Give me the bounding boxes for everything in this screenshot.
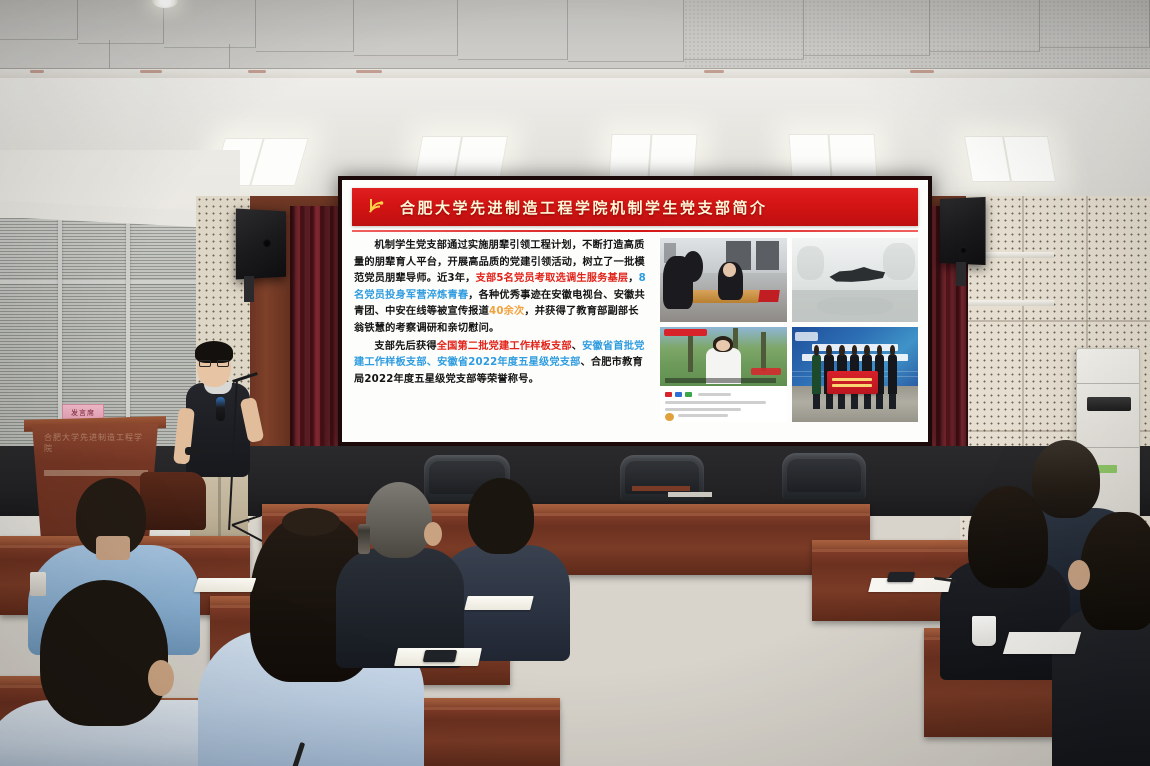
laser-pointer[interactable] — [185, 447, 205, 455]
audience-8-ear — [1068, 560, 1090, 590]
audience-4-head — [468, 478, 534, 554]
slide-text-run: ， — [628, 273, 638, 284]
ceiling-panel-light-3 — [608, 134, 697, 178]
phone-on-desk-2[interactable] — [887, 572, 915, 582]
podium-label: 合肥大学先进制造工程学院 — [44, 432, 148, 444]
slide-photo-grid — [660, 236, 918, 422]
audience-2-head — [40, 580, 168, 726]
slide-text-run: 全国第二批党建工作样板支部 — [437, 341, 572, 352]
notebook-2 — [464, 596, 533, 610]
audience-7-hair — [968, 486, 1048, 588]
projection-screen[interactable]: 合肥大学先进制造工程学院机制学生党支部简介 机制学生党支部通过实施朋辈引领工程计… — [338, 176, 932, 446]
presenter-glasses — [199, 360, 229, 367]
wooden-armchair — [140, 472, 206, 530]
podium-ledge — [44, 470, 148, 476]
slide-text-run: 支部先后获得 — [374, 341, 436, 352]
speaker-left-bracket — [244, 276, 254, 302]
audience-2-ear — [148, 660, 174, 696]
ac-vent — [1087, 397, 1131, 411]
ceiling-grid — [0, 0, 1150, 78]
audience-5-head — [366, 482, 432, 558]
stage-chair-3 — [782, 453, 866, 499]
paper-cup[interactable] — [972, 616, 996, 646]
party-emblem-icon — [364, 195, 390, 219]
water-bottle[interactable] — [358, 524, 370, 554]
slide-text-block: 机制学生党支部通过实施朋辈引领工程计划，不断打造高质量的朋辈育人平台，开展高品质… — [352, 236, 652, 422]
audience-3-bun — [282, 508, 340, 536]
notebook-1 — [194, 578, 257, 592]
audience-8-hair — [1080, 512, 1150, 630]
audience-8-torso — [1052, 606, 1150, 766]
slide-body: 机制学生党支部通过实施朋辈引领工程计划，不断打造高质量的朋辈育人平台，开展高品质… — [352, 236, 918, 422]
stage-curtain-left — [290, 206, 342, 466]
slide-paragraph-2: 支部先后获得全国第二批党建工作样板支部、安徽省首批党建工作样板支部、安徽省202… — [354, 339, 648, 389]
audience-6-head — [1032, 440, 1100, 518]
slide-photo-video-interview — [660, 327, 787, 422]
wall-shelf-2 — [968, 300, 1054, 306]
slide-title-underline — [352, 230, 918, 232]
stage-chair-arm — [632, 486, 690, 491]
slide-photo-snow-equipment — [792, 238, 919, 322]
stage-desk-item — [668, 492, 712, 497]
phone-on-desk-1[interactable] — [423, 650, 458, 662]
ceiling-panel-light-4 — [788, 134, 877, 178]
slide-text-run: 支部5名党员考取选调生服务基层 — [476, 273, 629, 284]
slide-photo-competition-group — [792, 327, 919, 422]
speaker-left — [236, 209, 286, 280]
conference-room-scene: 合肥大学先进制造工程学院机制学生党支部简介 机制学生党支部通过实施朋辈引领工程计… — [0, 0, 1150, 766]
speaker-right-bracket — [956, 262, 966, 286]
slide-paragraph-1: 机制学生党支部通过实施朋辈引领工程计划，不断打造高质量的朋辈育人平台，开展高品质… — [354, 238, 648, 338]
slide-title-bar: 合肥大学先进制造工程学院机制学生党支部简介 — [352, 188, 918, 226]
audience-1-neck — [96, 536, 130, 560]
ceiling-panel-light-5 — [964, 136, 1056, 182]
slide-text-run: 40余次 — [489, 306, 524, 317]
water-bottle-2[interactable] — [30, 572, 46, 596]
slide-text-run: 、 — [572, 341, 582, 352]
microphone[interactable] — [216, 397, 225, 421]
papers-right-2 — [1003, 632, 1081, 654]
slide-title: 合肥大学先进制造工程学院机制学生党支部简介 — [400, 197, 768, 218]
slide-photo-interview-table — [660, 238, 787, 322]
audience-5-ear — [424, 522, 442, 546]
speaker-right — [940, 197, 986, 265]
slide-canvas: 合肥大学先进制造工程学院机制学生党支部简介 机制学生党支部通过实施朋辈引领工程计… — [342, 180, 928, 442]
